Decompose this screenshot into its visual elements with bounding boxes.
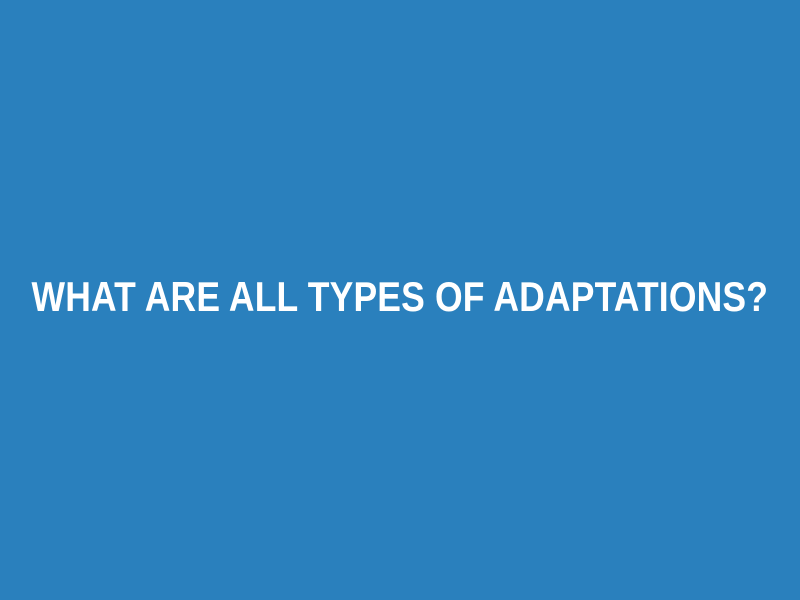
page-title: WHAT ARE ALL TYPES OF ADAPTATIONS? [32,273,769,320]
headline-container: WHAT ARE ALL TYPES OF ADAPTATIONS? [0,0,800,600]
headline-baseline-shim: WHAT ARE ALL TYPES OF ADAPTATIONS? [0,273,800,320]
featured-image-card: WHAT ARE ALL TYPES OF ADAPTATIONS? [0,0,800,600]
